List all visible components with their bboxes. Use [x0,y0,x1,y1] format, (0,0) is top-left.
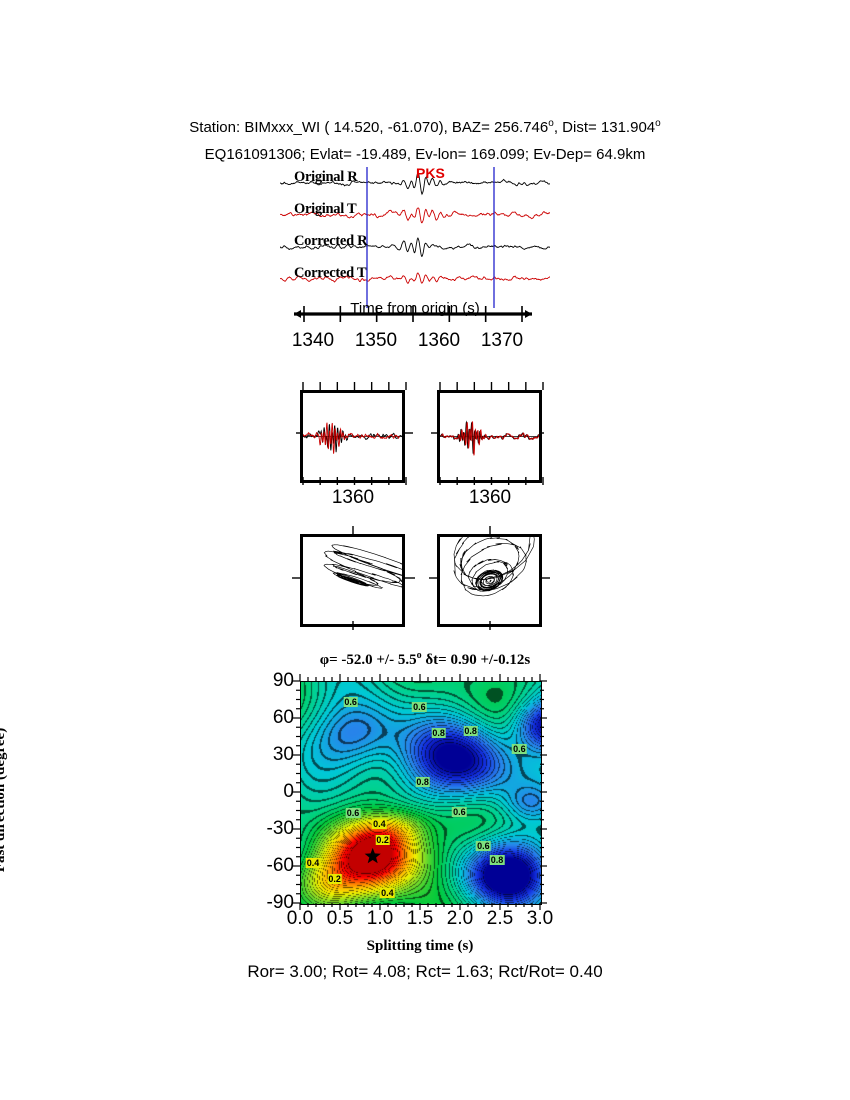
x-axis-label: Splitting time (s) [275,938,565,955]
time-tick-1370: 1370 [481,330,523,352]
x-tick-0.5: 0.5 [327,908,353,930]
time-axis-tick-labels: 1340135013601370 [275,330,555,354]
splitting-result-title: φ= -52.0 +/- 5.5o δt= 0.90 +/-0.12s [175,650,675,669]
time-axis-label: Time from origin (s) [280,300,550,317]
window-right-tick-label: 1360 [437,487,543,509]
trace-label-corrected-t: Corrected T [294,265,366,282]
y-tick-30: 30 [273,744,294,766]
trace-label-corrected-r: Corrected R [294,233,367,250]
waveform-trace-panel: Original R Original T Corrected R Correc… [280,165,550,310]
x-tick-0.0: 0.0 [287,908,313,930]
x-tick-1.5: 1.5 [407,908,433,930]
contour-axis-ticks [292,673,550,913]
time-tick-1360: 1360 [418,330,460,352]
y-axis-label: Fast direction (degree) [0,700,9,900]
x-tick-2.0: 2.0 [447,908,473,930]
y-tick-90: 90 [273,670,294,692]
x-tick-2.5: 2.5 [487,908,513,930]
figure-page: Station: BIMxxx_WI ( 14.520, -61.070), B… [0,0,850,1100]
x-axis-tick-labels: 0.00.51.01.52.02.53.0 [280,908,560,934]
y-tick--30: -30 [267,818,294,840]
phase-marker-label-pks: PKS [416,165,445,181]
trace-label-original-t: Original T [294,201,356,218]
y-tick-0: 0 [283,781,294,803]
y-axis-tick-labels: 9060300-30-60-90 [238,672,294,912]
y-tick-60: 60 [273,707,294,729]
y-tick--60: -60 [267,855,294,877]
x-tick-3.0: 3.0 [527,908,553,930]
time-tick-1350: 1350 [355,330,397,352]
x-tick-1.0: 1.0 [367,908,393,930]
time-tick-1340: 1340 [292,330,334,352]
quality-metrics-footer: Ror= 3.00; Rot= 4.08; Rct= 1.63; Rct/Rot… [0,962,850,982]
hodogram-panel-ticks [290,524,550,634]
window-panel-ticks [296,380,544,490]
page-title-station: Station: BIMxxx_WI ( 14.520, -61.070), B… [0,118,850,136]
page-title-event: EQ161091306; Evlat= -19.489, Ev-lon= 169… [0,146,850,163]
trace-label-original-r: Original R [294,169,357,186]
window-left-tick-label: 1360 [300,487,406,509]
